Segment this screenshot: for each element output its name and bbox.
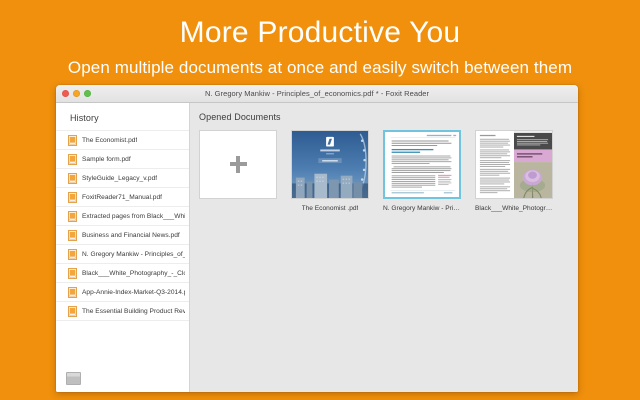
economist-cover-art xyxy=(292,131,368,198)
pdf-file-icon xyxy=(68,230,77,241)
history-list-item[interactable]: The Economist.pdf xyxy=(56,130,189,149)
add-document-cell xyxy=(199,130,277,205)
document-cell: The Economist .pdf xyxy=(291,130,369,212)
history-item-label: Sample form.pdf xyxy=(82,156,131,163)
history-item-label: App-Annie-Index-Market-Q3-2014.pdf xyxy=(82,289,185,296)
history-sidebar: History The Economist.pdf xyxy=(56,103,190,392)
document-cell: N. Gregory Mankiw - Princ... xyxy=(383,130,461,212)
document-thumbnail[interactable] xyxy=(291,130,369,199)
window-body: History The Economist.pdf xyxy=(56,103,578,392)
traffic-light-group xyxy=(62,85,91,102)
window-title: N. Gregory Mankiw - Principles_of_econom… xyxy=(205,89,429,98)
history-list: The Economist.pdf Sample form.pdf xyxy=(56,130,189,321)
history-list-item[interactable]: Sample form.pdf xyxy=(56,149,189,168)
history-list-item[interactable]: The Essential Building Product Review - xyxy=(56,301,189,321)
history-list-item[interactable]: FoxitReader71_Manual.pdf xyxy=(56,187,189,206)
history-item-label: Extracted pages from Black___White_P xyxy=(82,213,185,220)
history-item-label: FoxitReader71_Manual.pdf xyxy=(82,194,162,201)
document-thumbnail-selected[interactable] xyxy=(383,130,461,199)
sidebar-heading: History xyxy=(56,103,189,130)
text-page-art xyxy=(385,132,459,197)
pdf-file-icon xyxy=(68,135,77,146)
document-cell: Black___White_Photogra... xyxy=(475,130,553,212)
history-item-label: N. Gregory Mankiw - Principles_of_econ xyxy=(82,251,185,258)
opened-documents-pane: Opened Documents xyxy=(190,103,578,392)
close-window-button[interactable] xyxy=(62,90,69,97)
history-list-item[interactable]: App-Annie-Index-Market-Q3-2014.pdf xyxy=(56,282,189,301)
document-thumbnail[interactable] xyxy=(475,130,553,199)
document-caption: N. Gregory Mankiw - Princ... xyxy=(383,205,461,212)
pdf-file-icon xyxy=(68,249,77,260)
history-list-item[interactable]: StyleGuide_Legacy_v.pdf xyxy=(56,168,189,187)
promo-title: More Productive You xyxy=(0,0,640,51)
history-item-label: StyleGuide_Legacy_v.pdf xyxy=(82,175,157,182)
app-window: N. Gregory Mankiw - Principles_of_econom… xyxy=(56,85,578,392)
promo-subtitle: Open multiple documents at once and easi… xyxy=(0,51,640,78)
history-item-label: Business and Financial News.pdf xyxy=(82,232,180,239)
document-caption: Black___White_Photogra... xyxy=(475,205,553,212)
pdf-file-icon xyxy=(68,154,77,165)
history-list-item[interactable]: N. Gregory Mankiw - Principles_of_econ xyxy=(56,244,189,263)
pdf-file-icon xyxy=(68,268,77,279)
pdf-file-icon xyxy=(68,306,77,317)
document-caption: The Economist .pdf xyxy=(302,205,359,212)
magazine-spread-art xyxy=(476,131,552,198)
pdf-file-icon xyxy=(68,192,77,203)
history-item-label: The Essential Building Product Review - xyxy=(82,308,185,315)
history-item-label: Black___White_Photography_-_Close_u xyxy=(82,270,185,277)
history-list-item[interactable]: Extracted pages from Black___White_P xyxy=(56,206,189,225)
promo-banner: More Productive You Open multiple docume… xyxy=(0,0,640,78)
pdf-file-icon xyxy=(68,173,77,184)
history-item-label: The Economist.pdf xyxy=(82,137,137,144)
add-document-button[interactable] xyxy=(199,130,277,199)
opened-documents-heading: Opened Documents xyxy=(199,112,578,122)
window-titlebar[interactable]: N. Gregory Mankiw - Principles_of_econom… xyxy=(56,85,578,103)
history-list-item[interactable]: Business and Financial News.pdf xyxy=(56,225,189,244)
document-grid: The Economist .pdf xyxy=(199,130,578,212)
pdf-file-icon xyxy=(68,287,77,298)
history-list-item[interactable]: Black___White_Photography_-_Close_u xyxy=(56,263,189,282)
zoom-window-button[interactable] xyxy=(84,90,91,97)
pdf-file-icon xyxy=(68,211,77,222)
plus-icon xyxy=(230,156,247,173)
window-thumbnail-icon[interactable] xyxy=(66,372,81,385)
minimize-window-button[interactable] xyxy=(73,90,80,97)
